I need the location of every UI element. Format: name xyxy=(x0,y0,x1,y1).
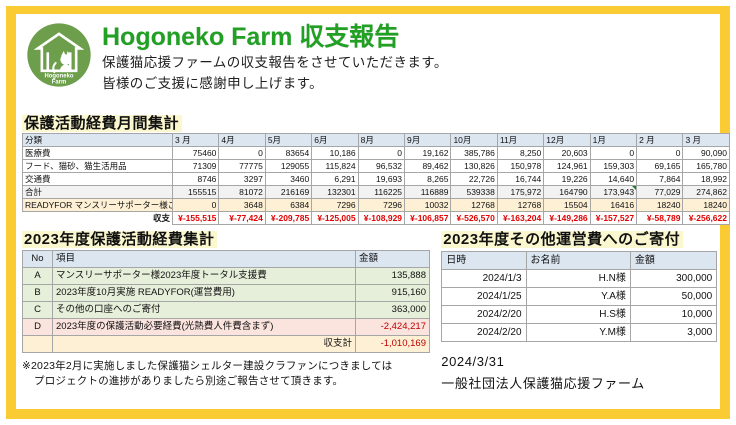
donation-date: 2024/2/20 xyxy=(442,306,526,324)
donation-amount: 300,000 xyxy=(630,270,716,288)
row-item: その他の口座へのご寄付 xyxy=(53,302,356,319)
table-header-row: 分類 3 月 4月 5月 6月 8月 9月 10月 11月 12月 1月 2 月 xyxy=(23,134,730,147)
cell: 18240 xyxy=(683,199,730,212)
cell: 71309 xyxy=(173,160,219,173)
table-row-balance: 収支 ¥-155,515 ¥-77,424 ¥-209,785 ¥-125,00… xyxy=(23,212,730,225)
cell: 6384 xyxy=(265,199,311,212)
table-row: フード、猫砂、猫生活用品 71309 77775 129055 115,824 … xyxy=(23,160,730,173)
column-header-amount: 金額 xyxy=(356,251,430,268)
column-header-month: 2 月 xyxy=(637,134,683,147)
table-row: 2024/1/3 H.N様 300,000 xyxy=(442,270,717,288)
cell: ¥-209,785 xyxy=(265,212,311,225)
table-row-sum: 収支計 -1,010,169 xyxy=(23,336,430,353)
cell: 10032 xyxy=(405,199,451,212)
cell: 129055 xyxy=(265,160,311,173)
report-page: Hogoneko Farm Hogoneko Farm 収支報告 保護猫応援ファ… xyxy=(0,0,736,425)
donation-amount: 50,000 xyxy=(630,288,716,306)
table-row-total: 合計 155515 81072 216169 132301 116225 116… xyxy=(23,186,730,199)
table-row: 医療費 75460 0 83654 10,186 0 19,162 385,78… xyxy=(23,147,730,160)
cell: 150,978 xyxy=(497,160,543,173)
cell: 8,250 xyxy=(497,147,543,160)
svg-text:Farm: Farm xyxy=(52,79,67,85)
table-row: D 2023年度の保護活動必要経費(光熱費人件費含まず) -2,424,217 xyxy=(23,319,430,336)
header-text-block: Hogoneko Farm 収支報告 保護猫応援ファームの収支報告をさせていただ… xyxy=(102,20,448,94)
table-header-row: No 項目 金額 xyxy=(23,251,430,268)
cell: 116225 xyxy=(358,186,404,199)
footnote: ※2023年2月に実施しました保護猫シェルター建設クラファンにつきましては プロ… xyxy=(22,359,431,389)
cell: 0 xyxy=(590,147,636,160)
cell: ¥-108,929 xyxy=(358,212,404,225)
sum-label: 収支計 xyxy=(53,336,356,353)
cell: 19,162 xyxy=(405,147,451,160)
row-no: C xyxy=(23,302,53,319)
cell: 81072 xyxy=(219,186,265,199)
svg-text:Hogoneko: Hogoneko xyxy=(44,73,73,79)
cell: 12768 xyxy=(497,199,543,212)
donation-name: Y.M様 xyxy=(526,324,630,342)
monthly-expenses-table: 分類 3 月 4月 5月 6月 8月 9月 10月 11月 12月 1月 2 月 xyxy=(22,133,730,225)
cell: 539338 xyxy=(451,186,497,199)
column-header-month: 4月 xyxy=(219,134,265,147)
row-item: 2023年度10月実施 READYFOR(運営費用) xyxy=(53,285,356,302)
row-label: 合計 xyxy=(23,186,173,199)
column-header-amount: 金額 xyxy=(630,252,716,270)
cell: 164790 xyxy=(544,186,590,199)
cell: 0 xyxy=(219,147,265,160)
cell: 75460 xyxy=(173,147,219,160)
cell: 0 xyxy=(173,199,219,212)
column-header-month: 3 月 xyxy=(173,134,219,147)
cell: 16416 xyxy=(590,199,636,212)
subtitle-line-2: 皆様のご支援に感謝申し上げます。 xyxy=(102,73,448,94)
row-amount: 915,160 xyxy=(356,285,430,302)
cell: 90,090 xyxy=(683,147,730,160)
signature-block: 2024/3/31 一般社団法人保護猫応援ファーム xyxy=(441,351,720,395)
column-header-item: 項目 xyxy=(53,251,356,268)
cell: 83654 xyxy=(265,147,311,160)
donations-table: 日時 お名前 金額 2024/1/3 H.N様 300,000 xyxy=(441,251,717,342)
cell: 22,726 xyxy=(451,173,497,186)
subtitle-line-1: 保護猫応援ファームの収支報告をさせていただきます。 xyxy=(102,52,448,73)
cell: 7,864 xyxy=(637,173,683,186)
cell: ¥-149,286 xyxy=(544,212,590,225)
cell: 7296 xyxy=(358,199,404,212)
yearly-section: 2023年度保護活動経費集計 No 項目 金額 A xyxy=(22,231,431,395)
column-header-category: 分類 xyxy=(23,134,173,147)
cell: ¥-256,622 xyxy=(683,212,730,225)
donations-section-title: 2023年度その他運営費へのご寄付 xyxy=(441,231,683,248)
cell: 173,943 xyxy=(590,186,636,199)
donation-name: Y.A様 xyxy=(526,288,630,306)
column-header-date: 日時 xyxy=(442,252,526,270)
cell: 6,291 xyxy=(312,173,358,186)
sum-amount: -1,010,169 xyxy=(356,336,430,353)
cell: 3297 xyxy=(219,173,265,186)
signature-organization: 一般社団法人保護猫応援ファーム xyxy=(441,373,720,395)
donations-section: 2023年度その他運営費へのご寄付 日時 お名前 金額 2024/1/3 xyxy=(441,231,720,395)
row-label: フード、猫砂、猫生活用品 xyxy=(23,160,173,173)
cell: ¥-526,570 xyxy=(451,212,497,225)
report-header: Hogoneko Farm Hogoneko Farm 収支報告 保護猫応援ファ… xyxy=(16,14,720,114)
lower-area: 2023年度保護活動経費集計 No 項目 金額 A xyxy=(16,225,720,395)
yearly-summary-table: No 項目 金額 A マンスリーサポーター様2023年度トータル支援費 135,… xyxy=(22,250,430,353)
row-amount: 363,000 xyxy=(356,302,430,319)
row-label: READYFOR マンスリーサポーター様ご支援 xyxy=(23,199,173,212)
donation-amount: 3,000 xyxy=(630,324,716,342)
cell: 115,824 xyxy=(312,160,358,173)
table-row-support: READYFOR マンスリーサポーター様ご支援 0 3648 6384 7296… xyxy=(23,199,730,212)
row-no: B xyxy=(23,285,53,302)
cell: 19,226 xyxy=(544,173,590,186)
cell: 16,744 xyxy=(497,173,543,186)
column-header-month: 9月 xyxy=(405,134,451,147)
yearly-section-title: 2023年度保護活動経費集計 xyxy=(22,231,217,248)
cell: 69,165 xyxy=(637,160,683,173)
row-no: A xyxy=(23,268,53,285)
cell: ¥-77,424 xyxy=(219,212,265,225)
sum-spacer xyxy=(23,336,53,353)
monthly-section: 保護活動経費月間集計 分類 3 月 4月 5月 6月 8月 9月 10月 11月 xyxy=(16,114,720,225)
row-label: 収支 xyxy=(23,212,173,225)
cell: ¥-106,857 xyxy=(405,212,451,225)
column-header-no: No xyxy=(23,251,53,268)
cell: 96,532 xyxy=(358,160,404,173)
cell: 116889 xyxy=(405,186,451,199)
cell: 175,972 xyxy=(497,186,543,199)
cell: ¥-157,527 xyxy=(590,212,636,225)
table-row: B 2023年度10月実施 READYFOR(運営費用) 915,160 xyxy=(23,285,430,302)
column-header-month: 5月 xyxy=(265,134,311,147)
footnote-line-1: ※2023年2月に実施しました保護猫シェルター建設クラファンにつきましては xyxy=(22,360,392,372)
cell: ¥-155,515 xyxy=(173,212,219,225)
cell: 0 xyxy=(358,147,404,160)
column-header-month: 12月 xyxy=(544,134,590,147)
cell: 3648 xyxy=(219,199,265,212)
cell: ¥-125,005 xyxy=(312,212,358,225)
cell: 19,693 xyxy=(358,173,404,186)
cell: 3460 xyxy=(265,173,311,186)
monthly-section-title: 保護活動経費月間集計 xyxy=(22,115,182,132)
column-header-month: 11月 xyxy=(497,134,543,147)
donation-name: H.S様 xyxy=(526,306,630,324)
cell: 385,786 xyxy=(451,147,497,160)
hogoneko-farm-logo-icon: Hogoneko Farm xyxy=(26,22,92,88)
cell: 10,186 xyxy=(312,147,358,160)
table-header-row: 日時 お名前 金額 xyxy=(442,252,717,270)
cell: 159,303 xyxy=(590,160,636,173)
row-amount: -2,424,217 xyxy=(356,319,430,336)
cell: 77,029 xyxy=(637,186,683,199)
footnote-line-2: プロジェクトの進捗がありましたら別途ご報告させて頂きます。 xyxy=(22,374,431,389)
report-canvas: Hogoneko Farm Hogoneko Farm 収支報告 保護猫応援ファ… xyxy=(16,14,720,409)
cell: 8746 xyxy=(173,173,219,186)
cell: 274,862 xyxy=(683,186,730,199)
yellow-frame: Hogoneko Farm Hogoneko Farm 収支報告 保護猫応援ファ… xyxy=(6,6,730,419)
column-header-month: 6月 xyxy=(312,134,358,147)
column-header-month: 3 月 xyxy=(683,134,730,147)
donation-date: 2024/1/25 xyxy=(442,288,526,306)
table-row: 2024/1/25 Y.A様 50,000 xyxy=(442,288,717,306)
cell: ¥-163,204 xyxy=(497,212,543,225)
table-row: A マンスリーサポーター様2023年度トータル支援費 135,888 xyxy=(23,268,430,285)
table-row: 交通費 8746 3297 3460 6,291 19,693 8,265 22… xyxy=(23,173,730,186)
row-label: 交通費 xyxy=(23,173,173,186)
table-row: C その他の口座へのご寄付 363,000 xyxy=(23,302,430,319)
column-header-month: 10月 xyxy=(451,134,497,147)
cell: 89,462 xyxy=(405,160,451,173)
donation-name: H.N様 xyxy=(526,270,630,288)
cell: 165,780 xyxy=(683,160,730,173)
row-item: マンスリーサポーター様2023年度トータル支援費 xyxy=(53,268,356,285)
row-item: 2023年度の保護活動必要経費(光熱費人件費含まず) xyxy=(53,319,356,336)
column-header-name: お名前 xyxy=(526,252,630,270)
table-row: 2024/2/20 H.S様 10,000 xyxy=(442,306,717,324)
signature-date: 2024/3/31 xyxy=(441,351,720,373)
cell: 18,992 xyxy=(683,173,730,186)
cell: 132301 xyxy=(312,186,358,199)
cell: 12768 xyxy=(451,199,497,212)
column-header-month: 1月 xyxy=(590,134,636,147)
cell: 15504 xyxy=(544,199,590,212)
cell: 14,640 xyxy=(590,173,636,186)
cell: 8,265 xyxy=(405,173,451,186)
cell: 18240 xyxy=(637,199,683,212)
page-title: Hogoneko Farm 収支報告 xyxy=(102,22,448,52)
cell: 0 xyxy=(637,147,683,160)
cell: 124,961 xyxy=(544,160,590,173)
cell: 7296 xyxy=(312,199,358,212)
cell: 130,826 xyxy=(451,160,497,173)
donation-date: 2024/2/20 xyxy=(442,324,526,342)
cell: 216169 xyxy=(265,186,311,199)
cell: 77775 xyxy=(219,160,265,173)
donation-date: 2024/1/3 xyxy=(442,270,526,288)
donation-amount: 10,000 xyxy=(630,306,716,324)
cell: 20,603 xyxy=(544,147,590,160)
table-row: 2024/2/20 Y.M様 3,000 xyxy=(442,324,717,342)
row-label: 医療費 xyxy=(23,147,173,160)
cell: ¥-58,789 xyxy=(637,212,683,225)
column-header-month: 8月 xyxy=(358,134,404,147)
row-no: D xyxy=(23,319,53,336)
cell: 155515 xyxy=(173,186,219,199)
row-amount: 135,888 xyxy=(356,268,430,285)
